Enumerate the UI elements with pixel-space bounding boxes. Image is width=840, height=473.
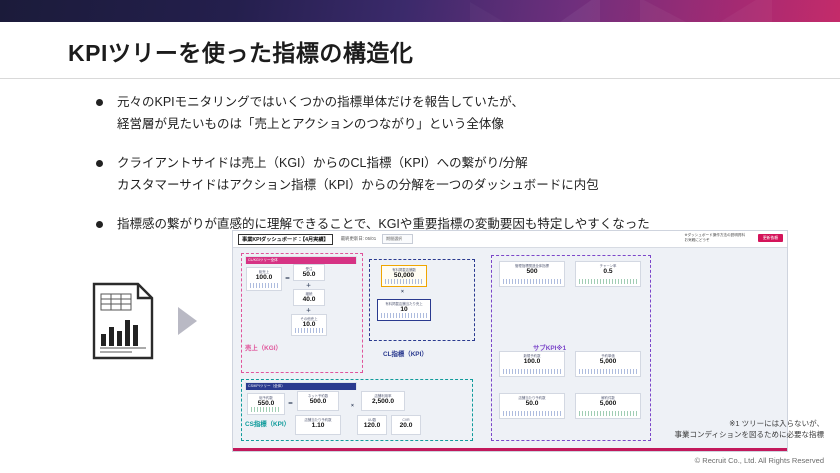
dashboard-subtitle: 最終更新日: 05/01 <box>341 236 376 242</box>
dashboard-bottom-accent <box>233 448 787 451</box>
sparkline-chart <box>579 369 637 374</box>
triangle-accent-icon <box>470 2 504 22</box>
triangle-accent-icon <box>640 0 686 22</box>
metric-card-order[interactable]: 受注 50.0 <box>293 264 325 281</box>
metric-card-store-usage[interactable]: 店舗利用率 2,500.0 <box>361 391 405 411</box>
kgi-tree-group: CL/KGIツリー全体 <box>245 256 357 264</box>
sparkline-chart <box>385 279 423 284</box>
metric-value: 500 <box>500 268 564 277</box>
metric-card-paid-stores[interactable]: 有料掲載店舗数 50,000 <box>381 265 427 287</box>
metric-value: 2,500.0 <box>362 398 404 407</box>
sparkline-chart <box>579 411 637 416</box>
flow-arrow-icon <box>178 307 197 335</box>
metric-value: 1.10 <box>296 422 340 431</box>
metric-card-sub-2[interactable]: チャーン率 0.5 <box>575 261 641 287</box>
sparkline-chart <box>503 279 561 284</box>
metric-card-continued[interactable]: 継続 40.0 <box>293 289 325 306</box>
metric-card-sub-6[interactable]: 解約件数 5,000 <box>575 393 641 419</box>
metric-card-net-reservations[interactable]: ネット予約数 500.0 <box>297 391 339 411</box>
metric-card-sub-1[interactable]: 管理指標関連全体指標 500 <box>499 261 565 287</box>
list-item: クライアントサイドは売上（KGI）からのCL指標（KPI）への繋がり/分解 カス… <box>96 153 796 197</box>
operator-multiply-2: × <box>351 403 354 409</box>
sparkline-chart <box>295 328 323 333</box>
metric-value: 20.0 <box>392 422 420 431</box>
bullet-dot-icon <box>96 99 103 106</box>
dashboard-note: ※ダッシュボード操作方法の説明資料 お気軽にどうぞ <box>684 233 745 243</box>
metric-value: 5,000 <box>576 358 640 367</box>
metric-value: 100.0 <box>500 358 564 367</box>
sparkline-chart <box>381 313 427 318</box>
metric-value: 50.0 <box>500 400 564 409</box>
bullet-dot-icon <box>96 221 103 228</box>
sparkline-chart <box>251 407 281 412</box>
cs-panel-label: CS指標（KPI） <box>245 419 290 428</box>
decorative-top-bar <box>0 0 840 22</box>
sparkline-chart <box>250 283 278 288</box>
cs-tree-group-header: CS/KPIツリー（全体） <box>246 383 356 390</box>
metric-value: 40.0 <box>294 296 324 305</box>
list-item: 元々のKPIモニタリングではいくつかの指標単体だけを報告していたが、 経営層が見… <box>96 92 796 136</box>
metric-value: 5,000 <box>576 400 640 409</box>
metric-card-cvr[interactable]: CVR 20.0 <box>391 415 421 435</box>
metric-value: 0.5 <box>576 268 640 277</box>
operator-equals: ＝ <box>285 275 290 282</box>
sparkline-chart <box>503 369 561 374</box>
bullet-text: クライアントサイドは売上（KGI）からのCL指標（KPI）への繋がり/分解 カス… <box>117 153 599 197</box>
update-request-button[interactable]: 更新依頼 <box>758 234 783 242</box>
period-filter-select[interactable]: 期間選択 <box>382 234 413 244</box>
cl-panel-label: CL指標（KPI） <box>383 349 428 358</box>
sparkline-chart <box>503 411 561 416</box>
report-document-icon <box>92 282 154 360</box>
copyright: © Recruit Co., Ltd. All Rights Reserved <box>695 456 824 465</box>
kgi-tree-group-header: CL/KGIツリー全体 <box>246 257 356 264</box>
kgi-panel-label: 売上（KGI） <box>245 343 282 352</box>
metric-card-reservations-per-store[interactable]: 店舗当たり予約数 1.10 <box>295 415 341 435</box>
dashboard-title: 事業KPIダッシュボード：【4月実績】 <box>238 234 333 245</box>
sparkline-chart <box>579 279 637 284</box>
title-divider <box>0 78 840 79</box>
metric-card-sub-3[interactable]: 新規予約数 100.0 <box>499 351 565 377</box>
triangle-accent-icon <box>560 0 600 22</box>
metric-value: 50.0 <box>294 271 324 280</box>
metric-card-uu[interactable]: UU数 120.0 <box>357 415 387 435</box>
metric-card-sales-per-store[interactable]: 有料掲載店舗当たり売上 10 <box>377 299 431 321</box>
metric-card-total-reservations[interactable]: 総予約数 550.0 <box>247 393 285 415</box>
metric-value: 100.0 <box>247 274 281 283</box>
operator-multiply: × <box>401 289 404 295</box>
triangle-accent-icon <box>720 0 772 22</box>
metric-value: 120.0 <box>358 422 386 431</box>
bullet-list: 元々のKPIモニタリングではいくつかの指標単体だけを報告していたが、 経営層が見… <box>96 92 796 252</box>
metric-value: 500.0 <box>298 398 338 407</box>
page-title: KPIツリーを使った指標の構造化 <box>68 34 413 68</box>
metric-card-sub-4[interactable]: 予約単価 5,000 <box>575 351 641 377</box>
bullet-dot-icon <box>96 160 103 167</box>
footnote: ※1 ツリーには入らないが、 事業コンディションを図るために必要な指標 <box>675 418 824 441</box>
bullet-text: 元々のKPIモニタリングではいくつかの指標単体だけを報告していたが、 経営層が見… <box>117 92 524 136</box>
metric-card-sub-5[interactable]: 店舗当たり予約数 50.0 <box>499 393 565 419</box>
metric-card-other-sales[interactable]: その他売上 10.0 <box>291 314 327 336</box>
cs-tree-group: CS/KPIツリー（全体） <box>245 382 357 390</box>
operator-plus-2: ＋ <box>306 307 311 314</box>
operator-equals-2: ＝ <box>288 400 293 407</box>
operator-plus: ＋ <box>306 282 311 289</box>
metric-card-total-sales[interactable]: 総売上 100.0 <box>246 267 282 291</box>
